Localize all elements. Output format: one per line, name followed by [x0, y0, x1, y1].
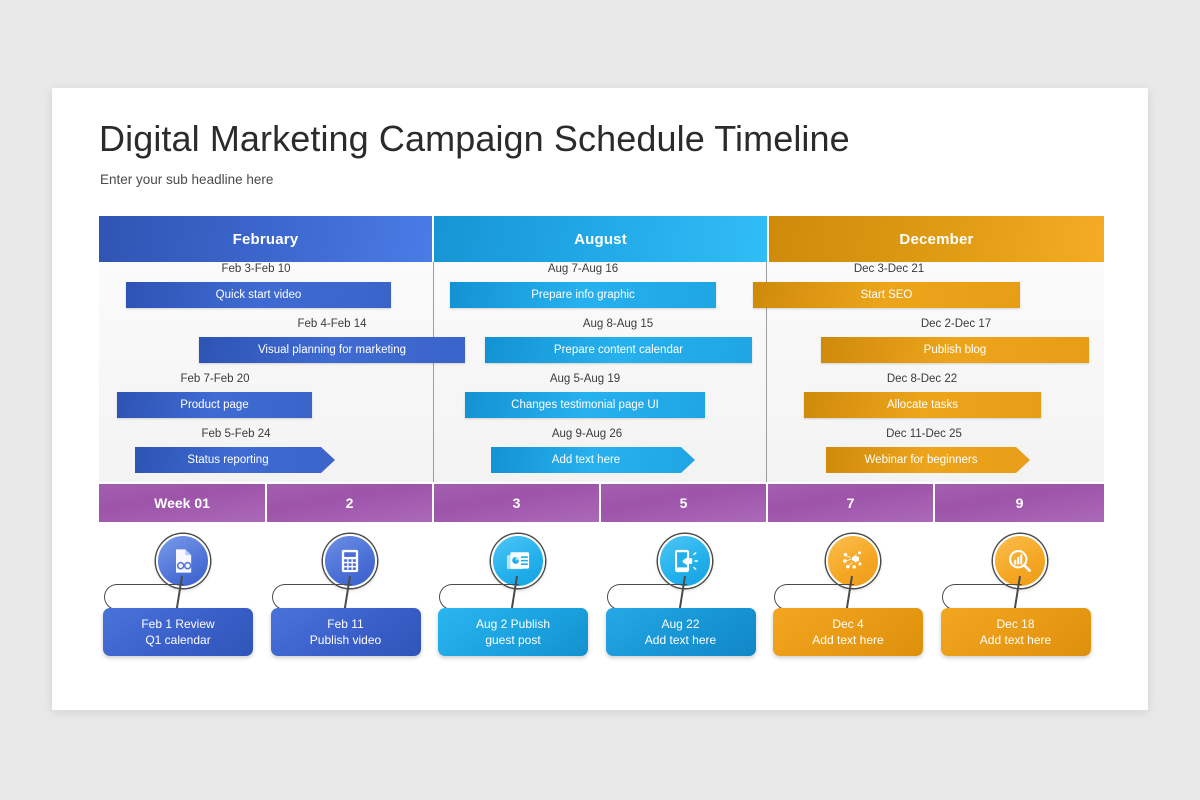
task-dates: Feb 5-Feb 24 — [201, 428, 270, 440]
week-label: 2 — [346, 495, 354, 511]
task-bar[interactable]: Visual planning for marketing — [199, 337, 465, 363]
month-header-label: August — [574, 231, 627, 248]
week-cell-1[interactable]: Week 01 — [99, 484, 267, 522]
milestone-connector — [607, 584, 687, 610]
page-subtitle: Enter your sub headline here — [100, 172, 273, 187]
milestone-card[interactable]: Dec 18 Add text here — [941, 608, 1091, 656]
task-dates: Dec 8-Dec 22 — [887, 373, 957, 385]
task-dates: Feb 7-Feb 20 — [180, 373, 249, 385]
slide-canvas: Digital Marketing Campaign Schedule Time… — [52, 88, 1148, 710]
gantt-body: Feb 3-Feb 10 Quick start video Aug 7-Aug… — [99, 262, 1104, 482]
week-label: 3 — [513, 495, 521, 511]
milestone-text: Q1 calendar — [145, 632, 210, 648]
gantt-chart: February August December Feb 3-Feb 10 Qu… — [99, 216, 1104, 568]
task-dates: Feb 4-Feb 14 — [297, 318, 366, 330]
milestone-icon-circle[interactable] — [156, 534, 210, 588]
milestone-date: Feb 11 — [327, 616, 363, 632]
analytics-search-icon — [1006, 547, 1034, 575]
task-bar[interactable]: Quick start video — [126, 282, 391, 308]
task-dates: Aug 5-Aug 19 — [550, 373, 620, 385]
milestone-row: Feb 1 Review Q1 calendar — [99, 528, 1104, 676]
task-dates: Dec 3-Dec 21 — [854, 263, 924, 275]
milestone-text: Add text here — [980, 632, 1051, 648]
week-label: 9 — [1016, 495, 1024, 511]
task-dates: Dec 2-Dec 17 — [921, 318, 991, 330]
milestone-card[interactable]: Feb 1 Review Q1 calendar — [103, 608, 253, 656]
milestone-item[interactable]: Dec 18 Add text here — [937, 528, 1105, 676]
milestone-item[interactable]: Feb 1 Review Q1 calendar — [99, 528, 267, 676]
milestone-connector — [774, 584, 854, 610]
milestone-item[interactable]: Aug 2 Publish guest post — [434, 528, 602, 676]
milestone-date: Feb 1 Review — [141, 616, 214, 632]
milestone-card[interactable]: Feb 11 Publish video — [271, 608, 421, 656]
task-bar[interactable]: Webinar for beginners — [826, 447, 1030, 473]
task-bar[interactable]: Start SEO — [753, 282, 1020, 308]
task-bar[interactable]: Product page — [117, 392, 312, 418]
milestone-icon-circle[interactable] — [491, 534, 545, 588]
milestone-icon-circle[interactable] — [993, 534, 1047, 588]
month-header-strip: February August December — [99, 216, 1104, 262]
task-dates: Dec 11-Dec 25 — [886, 428, 962, 440]
milestone-text: Add text here — [812, 632, 883, 648]
task-bar[interactable]: Changes testimonial page UI — [465, 392, 705, 418]
milestone-text: guest post — [485, 632, 540, 648]
milestone-connector — [104, 584, 184, 610]
milestone-icon-circle[interactable] — [323, 534, 377, 588]
milestone-item[interactable]: Dec 4 Add text here — [769, 528, 937, 676]
milestone-connector — [439, 584, 519, 610]
month-header-label: February — [233, 231, 299, 248]
week-cell-6[interactable]: 9 — [935, 484, 1104, 522]
week-label: Week 01 — [154, 495, 210, 511]
milestone-text: Publish video — [310, 632, 381, 648]
week-label: 7 — [847, 495, 855, 511]
month-header-august[interactable]: August — [434, 216, 767, 262]
task-dates: Aug 9-Aug 26 — [552, 428, 622, 440]
week-cell-4[interactable]: 5 — [601, 484, 768, 522]
month-header-december[interactable]: December — [769, 216, 1104, 262]
task-bar[interactable]: Status reporting — [135, 447, 335, 473]
milestone-item[interactable]: Feb 11 Publish video — [267, 528, 435, 676]
task-dates: Aug 8-Aug 15 — [583, 318, 653, 330]
milestone-icon-circle[interactable] — [658, 534, 712, 588]
month-header-label: December — [899, 231, 973, 248]
milestone-connector — [272, 584, 352, 610]
week-cell-2[interactable]: 2 — [267, 484, 434, 522]
milestone-card[interactable]: Dec 4 Add text here — [773, 608, 923, 656]
week-cell-3[interactable]: 3 — [434, 484, 601, 522]
task-bar[interactable]: Publish blog — [821, 337, 1089, 363]
task-dates: Feb 3-Feb 10 — [221, 263, 290, 275]
month-header-february[interactable]: February — [99, 216, 432, 262]
page-title: Digital Marketing Campaign Schedule Time… — [99, 118, 850, 160]
week-cell-5[interactable]: 7 — [768, 484, 935, 522]
week-strip: Week 01 2 3 5 7 9 — [99, 484, 1104, 522]
milestone-date: Dec 4 — [832, 616, 863, 632]
mobile-megaphone-icon — [671, 547, 699, 575]
news-article-icon — [504, 547, 532, 575]
calculator-icon — [336, 547, 364, 575]
milestone-icon-circle[interactable] — [826, 534, 880, 588]
task-bar[interactable]: Add text here — [491, 447, 695, 473]
milestone-card[interactable]: Aug 22 Add text here — [606, 608, 756, 656]
milestone-item[interactable]: Aug 22 Add text here — [602, 528, 770, 676]
milestone-date: Aug 22 — [661, 616, 699, 632]
document-review-icon — [169, 547, 197, 575]
task-bar[interactable]: Allocate tasks — [804, 392, 1041, 418]
social-network-icon — [839, 547, 867, 575]
week-label: 5 — [680, 495, 688, 511]
milestone-card[interactable]: Aug 2 Publish guest post — [438, 608, 588, 656]
milestone-date: Dec 18 — [996, 616, 1034, 632]
task-bar[interactable]: Prepare info graphic — [450, 282, 716, 308]
task-dates: Aug 7-Aug 16 — [548, 263, 618, 275]
milestone-connector — [942, 584, 1022, 610]
task-bar[interactable]: Prepare content calendar — [485, 337, 752, 363]
milestone-date: Aug 2 Publish — [476, 616, 550, 632]
milestone-text: Add text here — [645, 632, 716, 648]
